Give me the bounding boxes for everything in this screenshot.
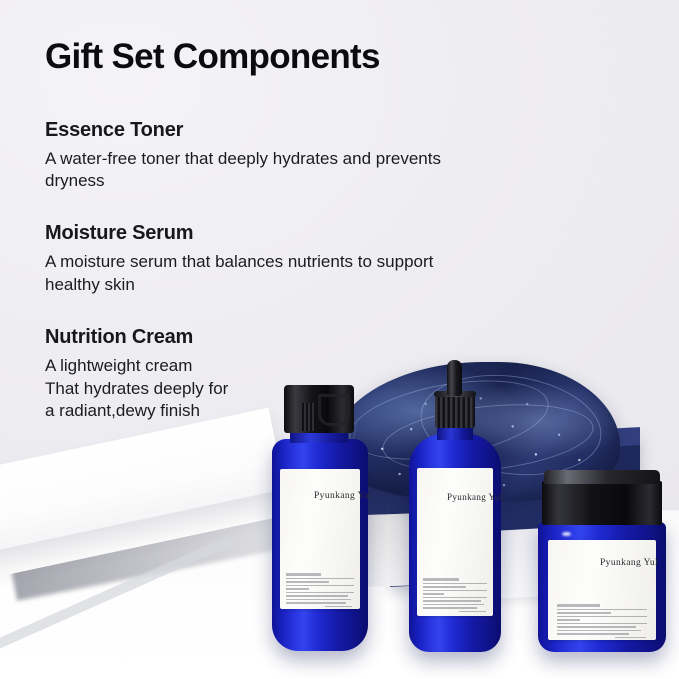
label-fine-print <box>423 578 487 614</box>
section-essence-toner: Essence Toner A water-free toner that de… <box>45 119 465 193</box>
cream-jar-lid <box>542 481 662 525</box>
label-fine-print <box>286 573 353 609</box>
nutrition-cream-jar: Pyunkang Yul <box>538 470 666 655</box>
brand-name: Pyunkang Yul <box>314 491 372 501</box>
section-description: A water-free toner that deeply hydrates … <box>45 148 465 193</box>
product-infographic: Pyunkang Yul <box>0 0 679 679</box>
page-title: Gift Set Components <box>45 38 465 77</box>
section-heading: Nutrition Cream <box>45 326 465 349</box>
serum-label: Pyunkang Yul <box>417 468 493 616</box>
section-description: A moisture serum that balances nutrients… <box>45 251 465 296</box>
cream-jar-lid-top <box>544 470 660 484</box>
glass-highlight <box>562 532 571 536</box>
toner-label: Pyunkang Yul <box>280 469 360 609</box>
brand-name: Pyunkang Yul <box>600 558 658 568</box>
cream-label: Pyunkang Yul <box>548 540 656 640</box>
section-heading: Essence Toner <box>45 119 465 142</box>
brand-name: Pyunkang Yul <box>447 492 502 502</box>
section-description: A lightweight cream That hydrates deeply… <box>45 355 465 422</box>
section-heading: Moisture Serum <box>45 222 465 245</box>
label-fine-print <box>557 604 648 640</box>
copy-column: Gift Set Components Essence Toner A wate… <box>45 38 465 453</box>
section-moisture-serum: Moisture Serum A moisture serum that bal… <box>45 222 465 296</box>
section-nutrition-cream: Nutrition Cream A lightweight cream That… <box>45 326 465 422</box>
